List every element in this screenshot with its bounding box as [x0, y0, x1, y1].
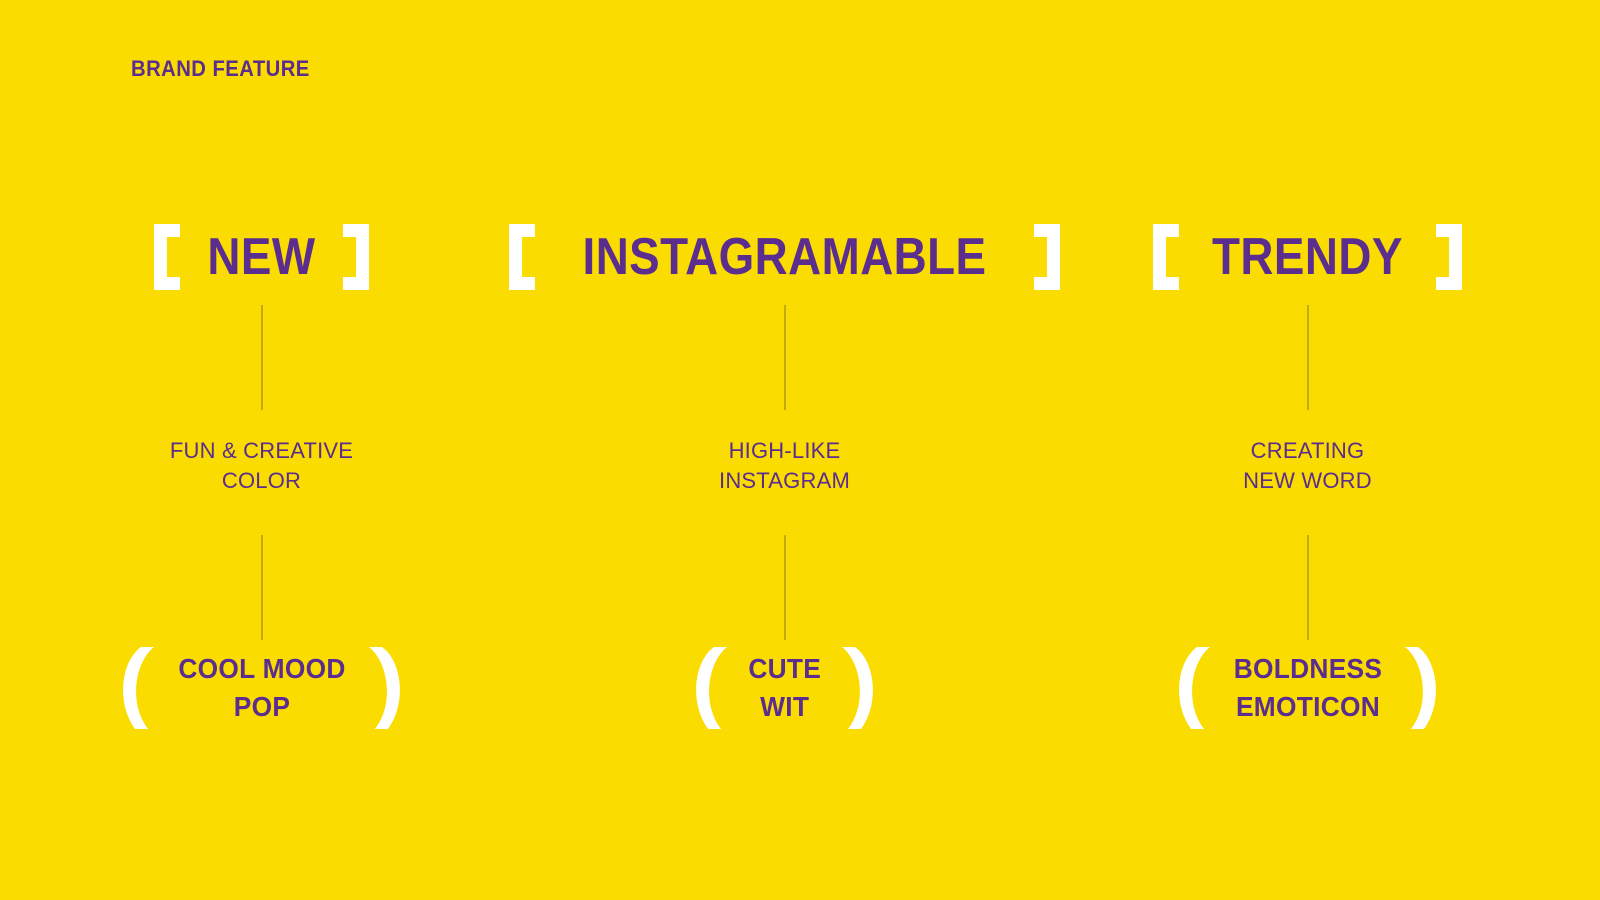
feature-description-line-2: NEW WORD: [1046, 466, 1569, 496]
feature-description-line-2: INSTAGRAM: [523, 466, 1046, 496]
feature-column-instagramable: INSTAGRAMABLE HIGH-LIKE INSTAGRAM: [523, 0, 1046, 900]
square-bracket-open-icon: [154, 224, 180, 290]
feature-description: CREATING NEW WORD: [1046, 436, 1569, 496]
feature-headline: INSTAGRAMABLE: [583, 231, 987, 283]
brand-feature-slide: BRAND FEATURE NEW FUN & CREATIVE COLOR: [0, 0, 1600, 900]
feature-keyword: BOLDNESS EMOTICON: [1233, 650, 1382, 726]
round-paren-close-icon: [368, 645, 402, 731]
connector-line-top: [261, 305, 262, 410]
feature-description-line-1: FUN & CREATIVE: [0, 436, 523, 466]
feature-description-line-2: COLOR: [0, 466, 523, 496]
square-bracket-close-icon: [1436, 224, 1462, 290]
feature-keyword: COOL MOOD POP: [178, 650, 345, 726]
connector-line-top: [1307, 305, 1308, 410]
feature-description-line-1: CREATING: [1046, 436, 1569, 466]
feature-columns: NEW FUN & CREATIVE COLOR: [0, 0, 1600, 900]
square-bracket-close-icon: [343, 224, 369, 290]
square-bracket-open-icon: [509, 224, 535, 290]
feature-headline-group: TRENDY: [1046, 222, 1569, 292]
round-paren-close-icon: [841, 645, 875, 731]
feature-description: HIGH-LIKE INSTAGRAM: [523, 436, 1046, 496]
feature-description-line-1: HIGH-LIKE: [523, 436, 1046, 466]
square-bracket-open-icon: [1153, 224, 1179, 290]
feature-keyword-line-1: CUTE: [748, 650, 821, 688]
connector-line-bottom: [261, 535, 262, 640]
connector-line-bottom: [784, 535, 785, 640]
feature-keyword-line-2: WIT: [748, 688, 821, 726]
feature-description: FUN & CREATIVE COLOR: [0, 436, 523, 496]
feature-headline-group: NEW: [0, 222, 523, 292]
round-paren-open-icon: [694, 645, 728, 731]
feature-headline: NEW: [207, 231, 315, 283]
feature-keyword-group: COOL MOOD POP: [0, 645, 523, 731]
feature-keyword-group: BOLDNESS EMOTICON: [1046, 645, 1569, 731]
feature-column-trendy: TRENDY CREATING NEW WORD: [1046, 0, 1569, 900]
round-paren-close-icon: [1404, 645, 1438, 731]
feature-headline-group: INSTAGRAMABLE: [523, 222, 1046, 292]
feature-keyword-line-2: EMOTICON: [1233, 688, 1382, 726]
round-paren-open-icon: [121, 645, 155, 731]
feature-keyword-group: CUTE WIT: [523, 645, 1046, 731]
feature-keyword-line-1: BOLDNESS: [1233, 650, 1382, 688]
connector-line-top: [784, 305, 785, 410]
round-paren-open-icon: [1177, 645, 1211, 731]
feature-keyword-line-1: COOL MOOD: [178, 650, 345, 688]
feature-column-new: NEW FUN & CREATIVE COLOR: [0, 0, 523, 900]
feature-keyword: CUTE WIT: [748, 650, 821, 726]
feature-headline: TRENDY: [1212, 231, 1403, 283]
feature-keyword-line-2: POP: [178, 688, 345, 726]
connector-line-bottom: [1307, 535, 1308, 640]
